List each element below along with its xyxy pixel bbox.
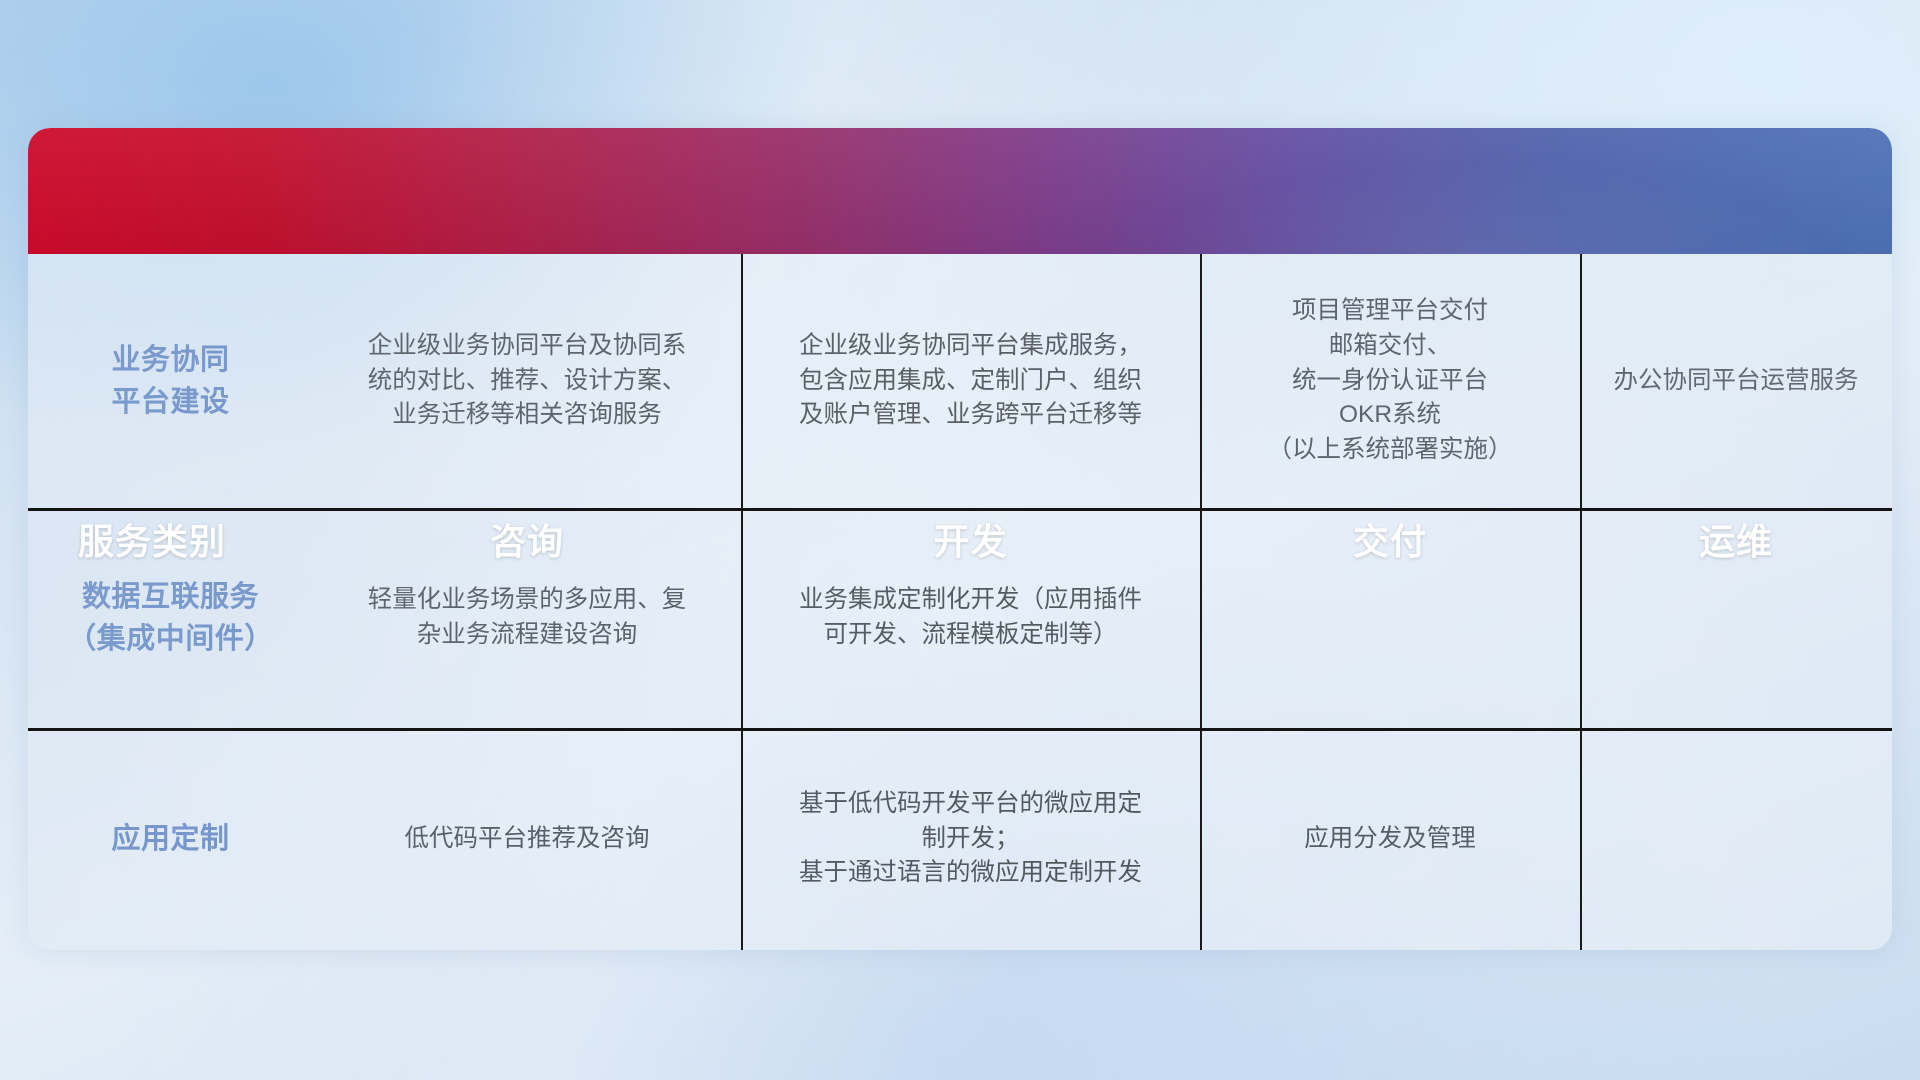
column-header-category: 服务类别 (28, 513, 313, 565)
row-divider-1 (28, 508, 1892, 511)
column-header-delivery: 交付 (1200, 513, 1580, 565)
row-divider-2 (28, 728, 1892, 731)
service-matrix-table: 服务类别 咨询 开发 交付 运维 业务协同 平台建设 企业级业务协同平台及协同系… (28, 128, 1892, 950)
column-header-consulting: 咨询 (313, 513, 741, 565)
column-divider-2 (1200, 254, 1202, 950)
column-divider-1 (741, 254, 743, 950)
column-header-development: 开发 (741, 513, 1200, 565)
page-root: 服务类别 咨询 开发 交付 运维 业务协同 平台建设 企业级业务协同平台及协同系… (0, 0, 1920, 1080)
table-header-row: 服务类别 咨询 开发 交付 运维 (28, 128, 1892, 950)
column-header-operations: 运维 (1580, 513, 1892, 565)
column-divider-3 (1580, 254, 1582, 950)
